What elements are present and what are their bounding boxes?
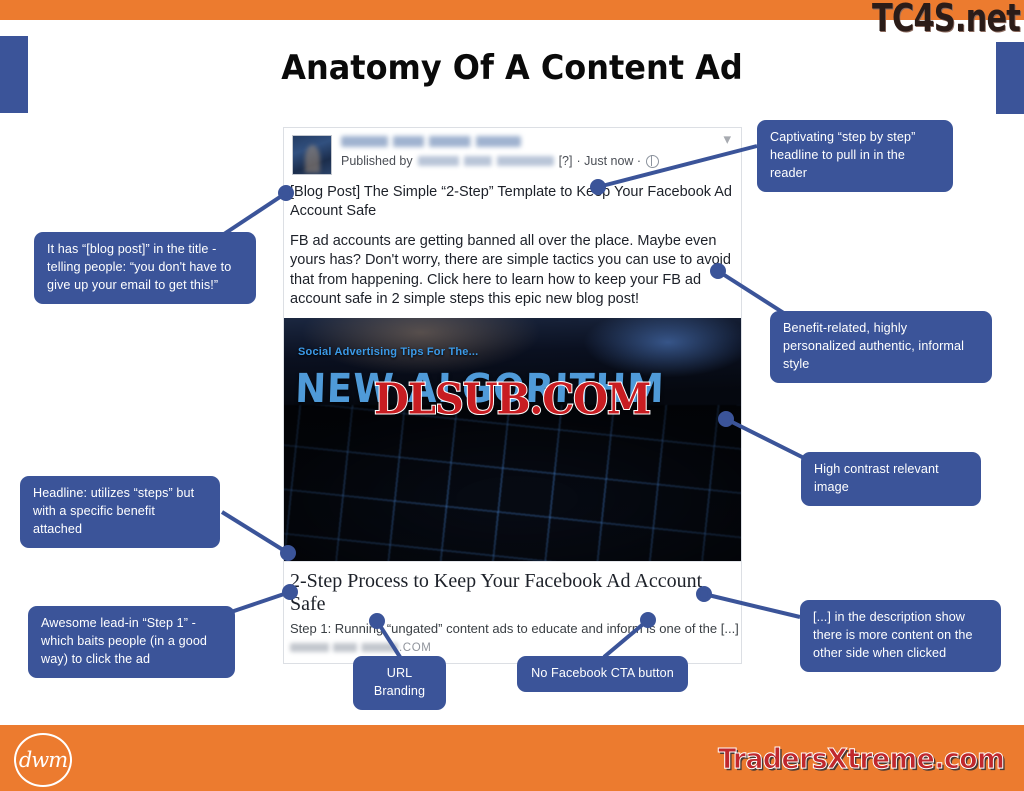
callout-ellipsis-in-description: [...] in the description show there is m…: [800, 600, 1001, 672]
left-blue-accent-block: [0, 36, 28, 113]
ad-post-header-text: Published by [?] · Just now ·: [341, 135, 723, 168]
globe-icon: [646, 155, 659, 168]
creative-kicker-text: Social Advertising Tips For The...: [298, 346, 478, 358]
tc4s-logo: TC4S.net: [872, 0, 1020, 40]
tradersxtreme-logo: TradersXtreme.com: [718, 742, 1004, 775]
callout-url-branding: URL Branding: [353, 656, 446, 710]
right-blue-accent-block: [996, 42, 1024, 114]
page-title: Anatomy Of A Content Ad: [31, 48, 994, 88]
page-name-redacted: [341, 136, 521, 147]
callout-benefit-related-copy: Benefit-related, highly personalized aut…: [770, 311, 992, 383]
link-description: Step 1: Running “ungated” content ads to…: [290, 621, 735, 636]
ad-creative-image[interactable]: Social Advertising Tips For The... NEW A…: [284, 318, 741, 561]
ad-post-meta: Published by [?] · Just now ·: [341, 154, 723, 168]
top-orange-band: [0, 0, 1024, 20]
ad-headline-text: [Blog Post] The Simple “2-Step” Template…: [290, 183, 735, 221]
callout-high-contrast-image: High contrast relevant image: [801, 452, 981, 506]
context-flag[interactable]: [?]: [559, 154, 573, 168]
ad-post-header: Published by [?] · Just now · ▾: [284, 128, 741, 179]
post-timestamp: · Just now ·: [576, 154, 641, 168]
chevron-down-icon[interactable]: ▾: [723, 135, 733, 145]
published-by-label: Published by: [341, 154, 413, 168]
callout-captivating-headline: Captivating “step by step” headline to p…: [757, 120, 953, 192]
ad-body-text: FB ad accounts are getting banned all ov…: [290, 232, 735, 309]
ad-link-preview[interactable]: 2-Step Process to Keep Your Facebook Ad …: [284, 561, 741, 663]
callout-headline-utilizes-steps: Headline: utilizes “steps” but with a sp…: [20, 476, 220, 548]
callout-no-cta-button: No Facebook CTA button: [517, 656, 688, 692]
publisher-name-redacted: [418, 156, 554, 166]
link-title[interactable]: 2-Step Process to Keep Your Facebook Ad …: [290, 570, 735, 616]
facebook-ad-mockup: Published by [?] · Just now · ▾ [Blog Po…: [283, 127, 742, 664]
callout-blog-post-in-title: It has “[blog post]” in the title - tell…: [34, 232, 256, 304]
ad-copy: [Blog Post] The Simple “2-Step” Template…: [284, 179, 741, 318]
link-url: .COM: [290, 642, 735, 654]
link-url-suffix: .COM: [399, 642, 431, 654]
avatar: [292, 135, 332, 175]
link-url-domain-redacted: [290, 643, 398, 652]
keyboard-keys-texture: [284, 405, 741, 561]
dlsub-watermark: DLSUB.COM: [374, 375, 650, 424]
infographic-page: TC4S.net Anatomy Of A Content Ad Publish…: [0, 0, 1024, 791]
dwm-logo: dwm: [14, 733, 72, 787]
callout-awesome-lead-in: Awesome lead-in “Step 1” - which baits p…: [28, 606, 235, 678]
